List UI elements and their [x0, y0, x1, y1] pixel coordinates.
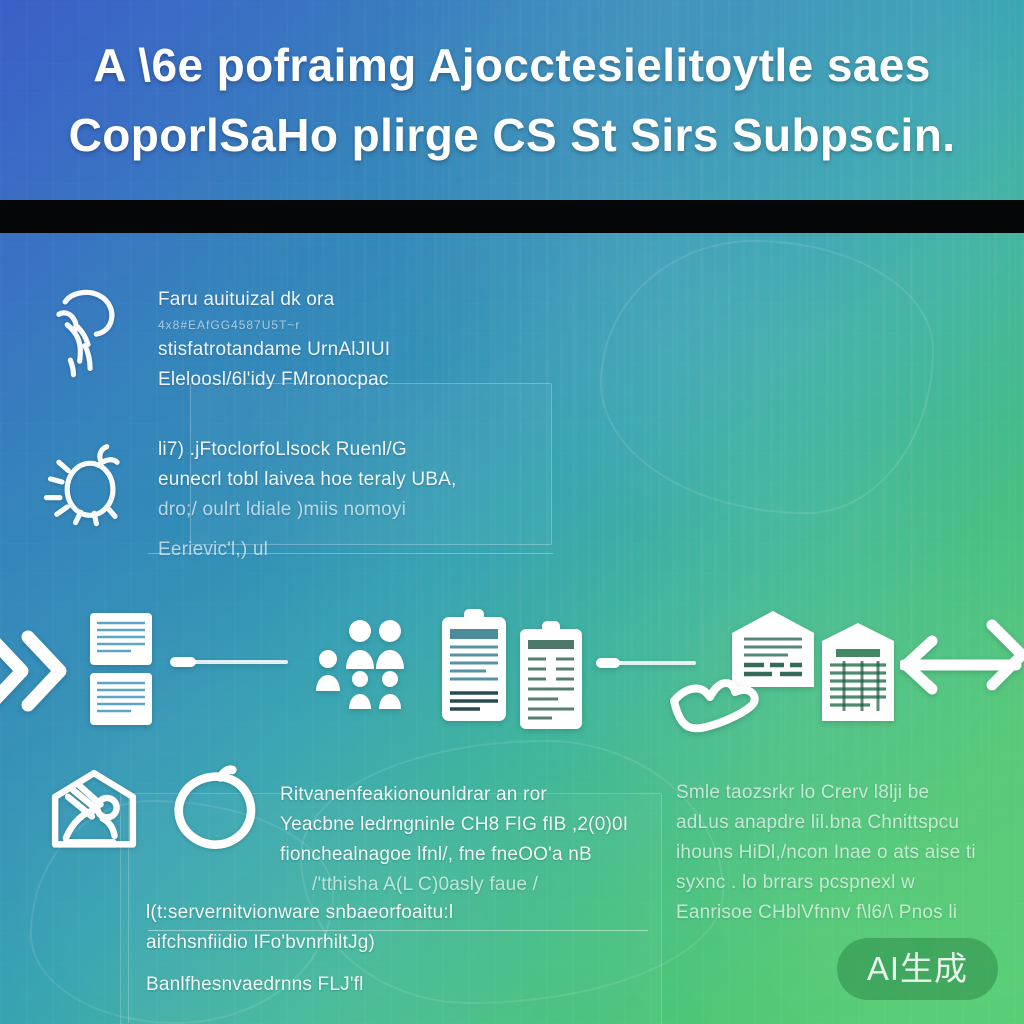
poster-header: A \6e pofraimg Ajocctesielitoytle saes C…	[0, 0, 1024, 200]
lightbulb-idea-icon	[36, 429, 140, 533]
upper2-line-1: li7) .jFtoclorfoLlsock Ruenl/G	[158, 435, 457, 465]
blob-outline-icon	[160, 758, 268, 866]
upper-line-4: Eleloosl/6l'idy FMronocpac	[158, 365, 390, 395]
upper-info-block: Faru auituizal dk ora 4x8#EAfGG4587U5T~r…	[36, 279, 636, 589]
header-divider-band	[0, 200, 1024, 233]
lower-left-tail-text: l(t:servernitvionware snbaeorfoaitu:l ai…	[146, 898, 666, 1000]
chevron-right-icon	[0, 625, 92, 717]
house-document-icon	[40, 758, 148, 866]
lower-left-block: Ritvanenfeakionounldrar an ror Yeacbne l…	[40, 758, 660, 900]
watermark-label: AI生成	[867, 950, 968, 988]
headline-line-1: A \6e pofraimg Ajocctesielitoytle saes	[93, 33, 931, 97]
lower-right-block: Smle taozsrkr lo Crerv l8lji be adLus an…	[676, 778, 1006, 928]
lower-line-4: /'tthisha A(L C)0asly faue /	[280, 870, 628, 900]
icon-strip	[0, 605, 1024, 735]
lower-line-2: Yeacbne ledrngninle CH8 FIG fIB ,2(0)0I	[280, 810, 628, 840]
info-row-hand-tool: Faru auituizal dk ora 4x8#EAfGG4587U5T~r…	[36, 279, 636, 395]
tail-line-3: Banlfhesnvaedrnns FLJ'fl	[146, 970, 666, 1000]
right-line-2: adLus anapdre lil.bna Chnittspcu	[676, 808, 1006, 838]
poster-body: Faru auituizal dk ora 4x8#EAfGG4587U5T~r…	[0, 233, 1024, 1024]
lower-line-1: Ritvanenfeakionounldrar an ror	[280, 780, 628, 810]
right-line-4: syxnc . lo brrars pcspnexl w	[676, 868, 1006, 898]
upper-line-2: 4x8#EAfGG4587U5T~r	[158, 315, 390, 335]
lower-row: Ritvanenfeakionounldrar an ror Yeacbne l…	[40, 758, 660, 900]
people-group-icon	[306, 613, 412, 723]
tail-line-1: l(t:servernitvionware snbaeorfoaitu:l	[146, 898, 666, 928]
upper-line-3: stisfatrotandame UrnAlJIUI	[158, 335, 390, 365]
headline-line-2: CoporlSaHo plirge CS St Sirs Subpscin.	[69, 103, 956, 167]
upper-line-1: Faru auituizal dk ora	[158, 285, 390, 315]
right-line-5: Eanrisoe CHblVfnnv f\l6/\ Pnos li	[676, 898, 1006, 928]
upper-text-hand-tool: Faru auituizal dk ora 4x8#EAfGG4587U5T~r…	[158, 279, 390, 395]
ai-generated-watermark: AI生成	[837, 938, 998, 1000]
upper2-line-2: eunecrl tobl laivea hoe teraly UBA,	[158, 465, 457, 495]
poster-canvas: A \6e pofraimg Ajocctesielitoytle saes C…	[0, 0, 1024, 1024]
tail-line-2: aifchsnfiidio IFo'bvnrhiltJg)	[146, 928, 666, 958]
clipboard-report-icon	[516, 619, 586, 735]
clipboard-form-icon	[438, 607, 510, 727]
bidirectional-arrow-icon	[900, 619, 1024, 717]
info-row-lightbulb: li7) .jFtoclorfoLlsock Ruenl/G eunecrl t…	[36, 429, 636, 565]
upper2-line-4: Eerievic'l,) ul	[158, 535, 457, 565]
lower-left-text: Ritvanenfeakionounldrar an ror Yeacbne l…	[280, 758, 628, 900]
right-line-1: Smle taozsrkr lo Crerv l8lji be	[676, 778, 1006, 808]
data-sheet-icon	[816, 621, 900, 725]
lower-line-3: fionchealnagoe lfnl/, fne fneOO'a nB	[280, 840, 628, 870]
stacked-documents-icon	[84, 611, 160, 729]
connector-line-icon	[170, 653, 290, 671]
upper-text-lightbulb: li7) .jFtoclorfoLlsock Ruenl/G eunecrl t…	[158, 429, 457, 565]
upper2-line-3: dro;/ oulrt ldiale )miis nomoyi	[158, 495, 457, 525]
right-line-3: ihouns HiDl,/ncon Inae o ats aise ti	[676, 838, 1006, 868]
pointing-hand-icon	[662, 661, 774, 735]
hand-tool-icon	[36, 279, 140, 383]
